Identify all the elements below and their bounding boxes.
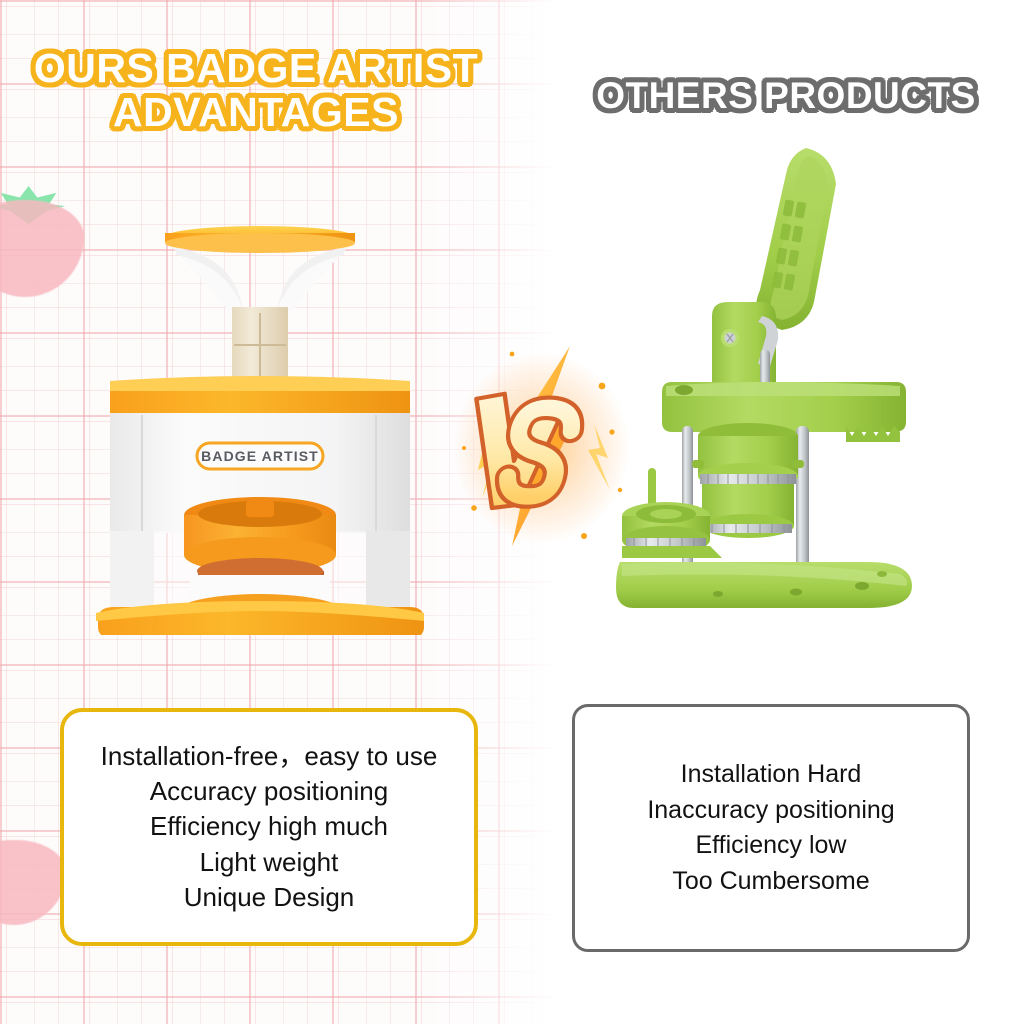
ours-feature-line: Accuracy positioning: [150, 774, 388, 809]
others-feature-line: Inaccuracy positioning: [647, 793, 894, 829]
others-feature-card: Installation Hard Inaccuracy positioning…: [572, 704, 970, 952]
ours-feature-line: Efficiency high much: [150, 809, 388, 844]
ours-feature-card: Installation-free，easy to use Accuracy p…: [60, 708, 478, 946]
comparison-infographic: OURS BADGE ARTIST ADVANTAGES OTHERS PROD…: [0, 0, 1024, 1024]
strawberry-body: [0, 840, 66, 925]
ours-heading: OURS BADGE ARTIST ADVANTAGES: [26, 46, 486, 135]
others-feature-line: Efficiency low: [696, 828, 847, 864]
vs-badge: VS: [452, 340, 632, 555]
others-heading: OTHERS PRODUCTS: [566, 76, 1006, 116]
others-feature-line: Installation Hard: [681, 757, 862, 793]
brand-label-text: BADGE ARTIST: [201, 448, 319, 464]
ours-feature-line: Light weight: [200, 845, 339, 880]
strawberry-icon: [0, 826, 66, 938]
strawberry-body: [0, 200, 84, 297]
ours-feature-line: Unique Design: [184, 880, 355, 915]
others-feature-line: Too Cumbersome: [672, 864, 869, 900]
ours-product-image: BADGE ARTIST: [80, 215, 440, 635]
ours-feature-line: Installation-free，easy to use: [101, 739, 438, 774]
others-product-image: [600, 130, 940, 630]
strawberry-icon: [0, 186, 84, 314]
